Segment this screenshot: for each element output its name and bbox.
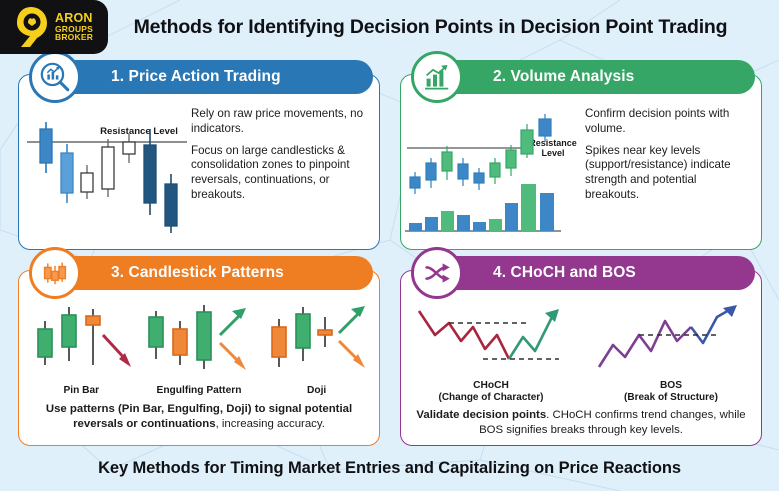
doji-figure <box>263 299 371 379</box>
svg-text:Resistance Level: Resistance Level <box>100 126 178 137</box>
diagram-sublabel-bos: (Break of Structure) <box>591 392 751 404</box>
panel-1-copy: Rely on raw price movements, no indicato… <box>189 103 379 249</box>
engulfing-figure <box>140 299 258 379</box>
panel-1-paragraph-2: Focus on large candlesticks & consolidat… <box>191 144 369 203</box>
panel-2-title: 2. Volume Analysis <box>431 60 755 94</box>
panel-3-footnote: Use patterns (Pin Bar, Engulfing, Doji) … <box>19 402 379 432</box>
brand-line-1: ARON <box>55 12 93 25</box>
brand-logo: ARON GROUPS BROKER <box>0 0 108 54</box>
bos-figure <box>591 301 751 375</box>
panel-3-title: 3. Candlestick Patterns <box>49 256 373 290</box>
page-title: Methods for Identifying Decision Points … <box>112 0 779 54</box>
method-panels: 1. Price Action Trading Resistance Level <box>18 74 762 446</box>
panel-2-body: Resistance Level <box>401 103 761 249</box>
structure-diagrams: CHoCH (Change of Character) BOS (Break o… <box>401 299 761 403</box>
panel-4-body: CHoCH (Change of Character) BOS (Break o… <box>401 299 761 445</box>
pattern-label-doji: Doji <box>263 385 371 396</box>
panel-3-body: Pin Bar <box>19 299 379 445</box>
panel-1-title: 1. Price Action Trading <box>49 60 373 94</box>
pin-bar-figure <box>27 299 135 379</box>
pattern-doji: Doji <box>263 299 371 396</box>
panel-1-body: Resistance Level <box>19 103 379 249</box>
pattern-label-pin-bar: Pin Bar <box>27 385 135 396</box>
panel-3-footnote-rest: , increasing accuracy. <box>216 418 325 430</box>
pattern-pin-bar: Pin Bar <box>27 299 135 396</box>
pattern-label-engulfing: Engulfing Pattern <box>140 385 258 396</box>
bar-chart-growth-icon <box>411 51 463 103</box>
panel-2-copy: Confirm decision points with volume. Spi… <box>583 103 761 249</box>
panel-2-paragraph-2: Spikes near key levels (support/resistan… <box>585 144 751 203</box>
brand-line-3: BROKER <box>55 33 93 42</box>
pattern-engulfing: Engulfing Pattern <box>140 299 258 396</box>
candlestick-pattern-figures: Pin Bar <box>19 299 379 396</box>
diagram-sublabel-choch: (Change of Character) <box>411 392 571 404</box>
aron-9-logo-icon <box>8 4 54 50</box>
svg-text:Resistance: Resistance <box>529 138 577 148</box>
panel-choch-and-bos: 4. CHoCH and BOS CHoCH (Change of Charac… <box>400 270 762 446</box>
diagram-choch: CHoCH (Change of Character) <box>411 301 571 403</box>
panel-4-footnote-bold: Validate decision points <box>416 409 546 421</box>
diagram-bos: BOS (Break of Structure) <box>591 301 751 403</box>
panel-2-paragraph-1: Confirm decision points with volume. <box>585 107 751 137</box>
brand-wordmark: ARON GROUPS BROKER <box>55 12 93 42</box>
panel-candlestick-patterns: 3. Candlestick Patterns <box>18 270 380 446</box>
diagram-label-choch: CHoCH <box>411 380 571 392</box>
candlestick-icon <box>29 247 81 299</box>
panel-price-action-trading: 1. Price Action Trading Resistance Level <box>18 74 380 250</box>
panel-volume-analysis: 2. Volume Analysis Resistance Level <box>400 74 762 250</box>
price-action-candlestick-chart: Resistance Level <box>19 103 189 249</box>
shuffle-arrows-icon <box>411 247 463 299</box>
diagram-label-bos: BOS <box>591 380 751 392</box>
page-header: ARON GROUPS BROKER Methods for Identifyi… <box>0 0 779 54</box>
panel-1-paragraph-1: Rely on raw price movements, no indicato… <box>191 107 369 137</box>
panel-4-footnote: Validate decision points. CHoCH confirms… <box>401 408 761 438</box>
choch-figure <box>411 301 571 375</box>
panel-4-title: 4. CHoCH and BOS <box>431 256 755 290</box>
magnifier-chart-icon <box>29 51 81 103</box>
svg-text:Level: Level <box>541 148 564 158</box>
page-footer: Key Methods for Timing Market Entries an… <box>0 446 779 491</box>
volume-analysis-chart: Resistance Level <box>401 103 583 249</box>
